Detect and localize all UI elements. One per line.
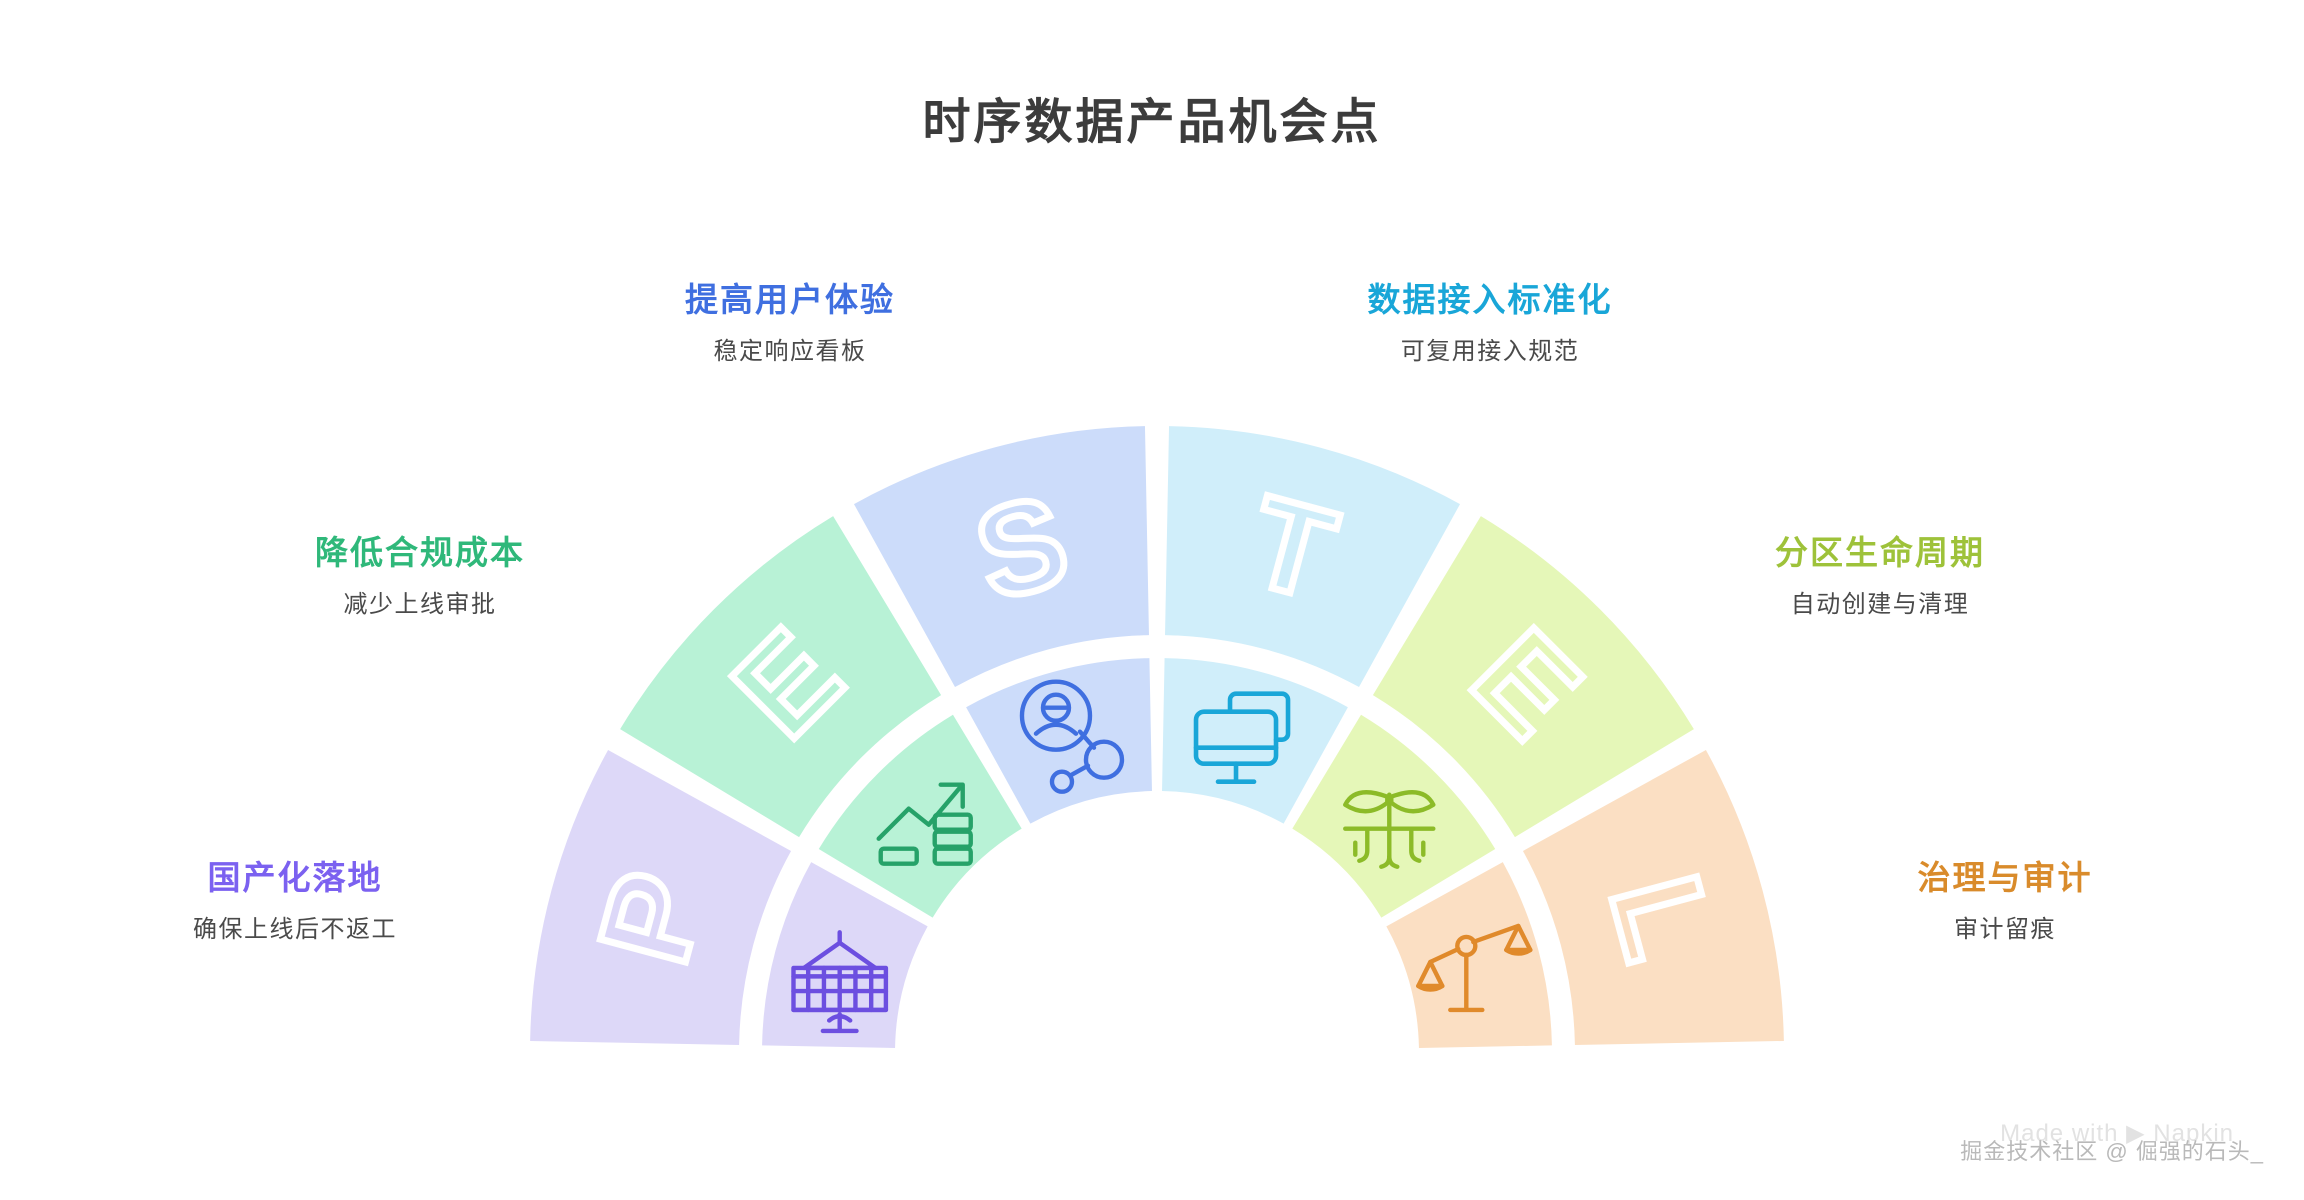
callout-t-title: 数据接入标准化 xyxy=(1300,282,1680,322)
callout-e2-subtitle: 自动创建与清理 xyxy=(1690,591,2070,620)
callout-l[interactable]: 治理与审计 审计留痕 xyxy=(1815,860,2195,944)
callout-e2-title: 分区生命周期 xyxy=(1690,535,2070,575)
callout-s[interactable]: 提高用户体验 稳定响应看板 xyxy=(600,282,980,366)
callout-t-subtitle: 可复用接入规范 xyxy=(1300,338,1680,367)
callout-p-title: 国产化落地 xyxy=(105,860,485,900)
callout-l-subtitle: 审计留痕 xyxy=(1815,916,2195,945)
callout-p[interactable]: 国产化落地 确保上线后不返工 xyxy=(105,860,485,944)
callout-e1[interactable]: 降低合规成本 减少上线审批 xyxy=(230,535,610,619)
callout-l-title: 治理与审计 xyxy=(1815,860,2195,900)
callout-e1-title: 降低合规成本 xyxy=(230,535,610,575)
callout-s-title: 提高用户体验 xyxy=(600,282,980,322)
callout-e1-subtitle: 减少上线审批 xyxy=(230,591,610,620)
callout-e2[interactable]: 分区生命周期 自动创建与清理 xyxy=(1690,535,2070,619)
watermark: 掘金技术社区 @ 倔强的石头_ xyxy=(1960,1134,2264,1166)
callout-p-subtitle: 确保上线后不返工 xyxy=(105,916,485,945)
callout-t[interactable]: 数据接入标准化 可复用接入规范 xyxy=(1300,282,1680,366)
callout-s-subtitle: 稳定响应看板 xyxy=(600,338,980,367)
outer-ring: P E S T E L xyxy=(530,426,1784,1045)
